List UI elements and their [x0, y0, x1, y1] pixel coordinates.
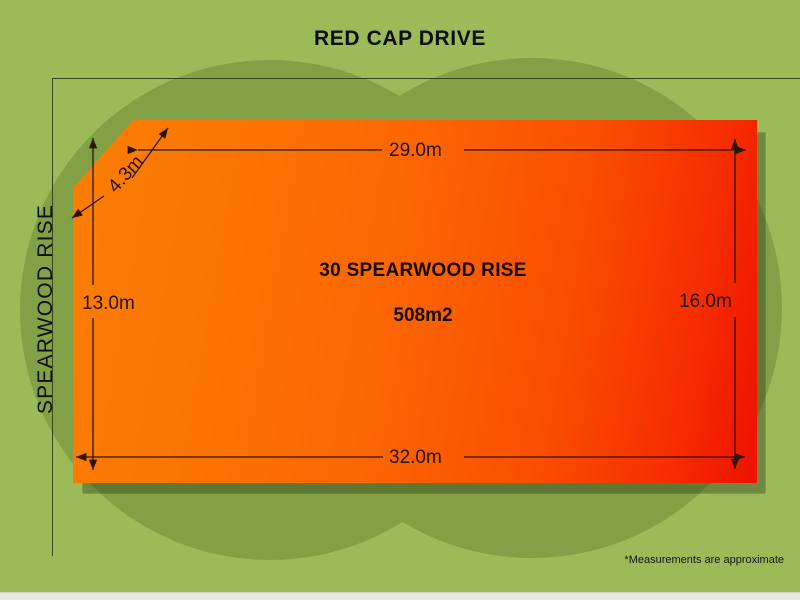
dimension-arrow-chamfer-down	[72, 196, 104, 218]
bottom-edge-strip	[0, 592, 800, 600]
parcel-address-label: 30 SPEARWOOD RISE	[233, 260, 613, 282]
parcel-area-label: 508m2	[233, 305, 613, 327]
dimension-label-bottom: 32.0m	[389, 447, 442, 469]
dimension-label-right: 16.0m	[679, 291, 732, 313]
disclaimer-text: *Measurements are approximate	[624, 554, 784, 566]
site-plan-canvas: RED CAP DRIVE SPEARWOOD RISE 29	[0, 0, 800, 600]
dimension-label-top: 29.0m	[389, 140, 442, 162]
dimension-label-left: 13.0m	[82, 293, 135, 315]
